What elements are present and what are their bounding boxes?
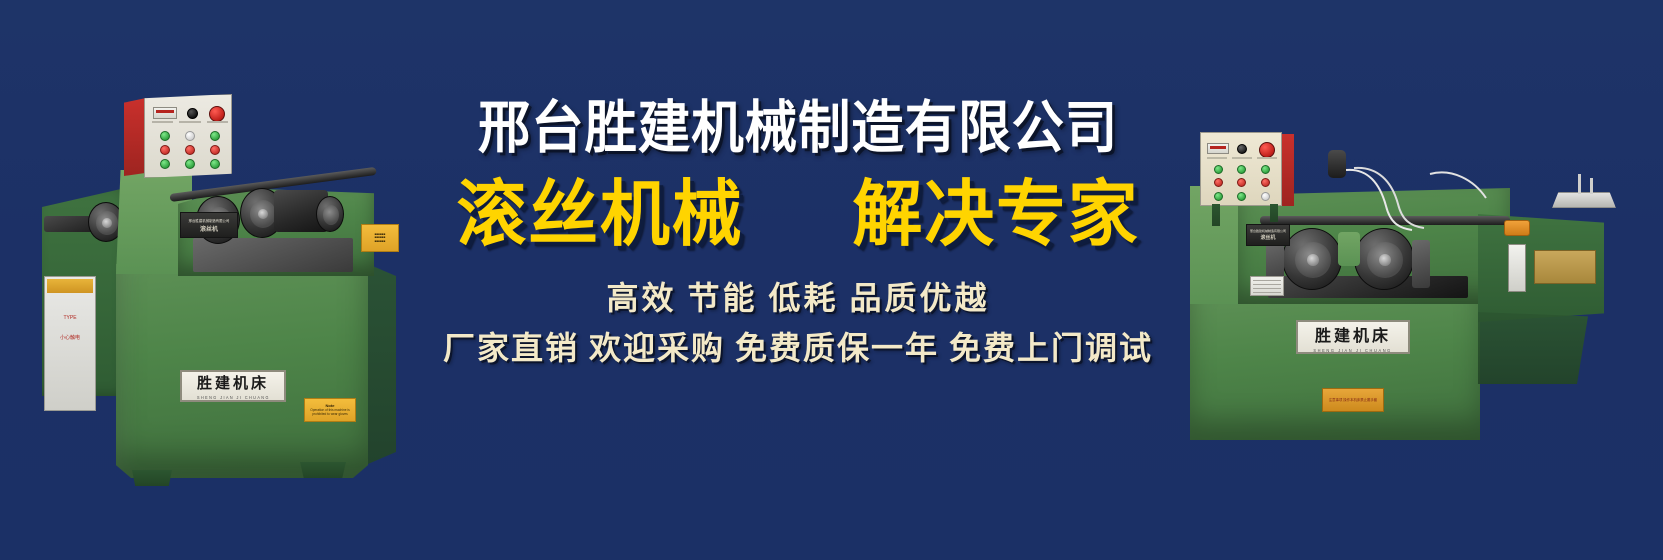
control-panel-face-right bbox=[1200, 132, 1282, 206]
panel-display[interactable] bbox=[153, 107, 177, 119]
panel-button-r2[interactable] bbox=[1237, 165, 1246, 174]
warning-body: Operation of this machine is prohibited … bbox=[305, 409, 355, 416]
machine-left-right-yellow-label: ■■■■■■■■■■■■■■■■■■ bbox=[361, 224, 399, 252]
control-panel-side bbox=[124, 98, 146, 176]
nameplate-brand-pinyin-right: SHENG JIAN JI CHUANG bbox=[1314, 348, 1393, 353]
nameplate-brand-pinyin: SHENG JIAN JI CHUANG bbox=[197, 395, 270, 400]
panel-button-r7[interactable] bbox=[1214, 192, 1223, 201]
spec-plate-company: 邢台胜建机械制造有限公司 bbox=[189, 218, 230, 223]
panel-button-r5[interactable] bbox=[1237, 178, 1246, 187]
company-title: 邢台胜建机械制造有限公司 bbox=[430, 96, 1166, 160]
machine-right-panel-stand-2 bbox=[1270, 204, 1278, 222]
spec-plate-company-right: 邢台胜建机械制造有限公司 bbox=[1250, 229, 1286, 233]
machine-left-foot-1 bbox=[132, 470, 172, 486]
subtitle-line-1: 高效 节能 低耗 品质优越 bbox=[398, 278, 1198, 318]
panel-button-r8[interactable] bbox=[1237, 192, 1246, 201]
machine-left-spec-plate: 邢台胜建机械制造有限公司 滚丝机 bbox=[180, 212, 238, 238]
machine-right-control-panel bbox=[1200, 132, 1296, 206]
machine-left-control-panel bbox=[124, 94, 232, 178]
machine-right-gauge-panel bbox=[1508, 244, 1526, 292]
panel-button-1[interactable] bbox=[160, 131, 170, 141]
panel-button-r4[interactable] bbox=[1214, 178, 1223, 187]
machine-right-feed-tray bbox=[1552, 192, 1616, 208]
machine-left-warning-label: Note Operation of this machine is prohib… bbox=[304, 398, 356, 422]
panel-button-8[interactable] bbox=[185, 159, 195, 169]
promo-banner: TYPE 小心触电 邢台胜建机械制造有限公司 滚丝机 bbox=[0, 0, 1663, 560]
panel-button-9[interactable] bbox=[210, 159, 220, 169]
machine-right-roller-1 bbox=[1282, 228, 1342, 290]
machine-right-warning-text: 注意事项 操作本机床禁止戴手套 bbox=[1329, 398, 1377, 402]
panel-button-5[interactable] bbox=[185, 145, 195, 155]
machine-right-hose-clamp bbox=[1328, 150, 1346, 178]
machine-right-image: 邢台胜建机械制造有限公司 滚丝机 胜建机床 SHENG JIAN JI CHUA… bbox=[1178, 128, 1648, 438]
machine-right-orange-connector bbox=[1504, 220, 1530, 236]
spec-plate-model-right: 滚丝机 bbox=[1260, 234, 1275, 241]
panel-button-r1[interactable] bbox=[1214, 165, 1223, 174]
machine-left-body-right-face bbox=[368, 264, 396, 464]
machine-right-roller-2 bbox=[1354, 228, 1414, 290]
panel-knob[interactable] bbox=[187, 108, 198, 119]
machine-right-extension-lower bbox=[1478, 312, 1588, 384]
panel-button-r9[interactable] bbox=[1261, 192, 1270, 201]
banner-text-block: 邢台胜建机械制造有限公司 滚丝机械 解决专家 高效 节能 低耗 品质优越 厂家直… bbox=[398, 96, 1198, 368]
machine-right-small-table-plate bbox=[1250, 276, 1284, 296]
panel-button-3[interactable] bbox=[210, 131, 220, 141]
machine-right-brass-plate bbox=[1534, 250, 1596, 284]
machine-right-feed-post bbox=[1578, 174, 1581, 194]
control-panel-face bbox=[144, 94, 232, 178]
panel-button-r3[interactable] bbox=[1261, 165, 1270, 174]
machine-left-image: TYPE 小心触电 邢台胜建机械制造有限公司 滚丝机 bbox=[28, 88, 418, 498]
panel-button-grid[interactable] bbox=[153, 129, 227, 171]
panel-knob-right[interactable] bbox=[1237, 144, 1247, 154]
machine-right-feed-post-2 bbox=[1590, 178, 1593, 194]
headline-right: 解决专家 bbox=[852, 174, 1139, 256]
machine-right-center-gear-cover bbox=[1338, 232, 1360, 266]
machine-left-side-cabinet: TYPE 小心触电 bbox=[44, 276, 96, 411]
headline-row: 滚丝机械 解决专家 bbox=[398, 174, 1198, 256]
panel-display-right[interactable] bbox=[1207, 143, 1229, 154]
machine-right-nameplate: 胜建机床 SHENG JIAN JI CHUANG bbox=[1296, 320, 1410, 354]
panel-button-grid-right[interactable] bbox=[1207, 163, 1277, 203]
machine-right-panel-stand bbox=[1212, 204, 1220, 226]
machine-right-spec-plate: 邢台胜建机械制造有限公司 滚丝机 bbox=[1246, 224, 1290, 246]
headline-left: 滚丝机械 bbox=[456, 174, 743, 256]
panel-button-2[interactable] bbox=[185, 131, 195, 141]
nameplate-brand-cn: 胜建机床 bbox=[197, 372, 269, 393]
panel-button-r6[interactable] bbox=[1261, 178, 1270, 187]
subtitle-line-2: 厂家直销 欢迎采购 免费质保一年 免费上门调试 bbox=[398, 328, 1198, 368]
machine-right-roller-guard-2 bbox=[1412, 240, 1430, 288]
emergency-stop-button-right[interactable] bbox=[1259, 142, 1275, 158]
spec-plate-model: 滚丝机 bbox=[200, 224, 218, 233]
panel-button-7[interactable] bbox=[160, 159, 170, 169]
emergency-stop-button[interactable] bbox=[209, 106, 225, 122]
panel-button-6[interactable] bbox=[210, 145, 220, 155]
machine-right-lower-body bbox=[1190, 296, 1480, 440]
machine-right-warning-label: 注意事项 操作本机床禁止戴手套 bbox=[1322, 388, 1384, 412]
machine-left-foot-2 bbox=[300, 462, 346, 478]
machine-left-roller-3 bbox=[316, 196, 344, 232]
nameplate-brand-cn-right: 胜建机床 bbox=[1315, 322, 1391, 346]
panel-button-4[interactable] bbox=[160, 145, 170, 155]
machine-left-nameplate: 胜建机床 SHENG JIAN JI CHUANG bbox=[180, 370, 286, 402]
